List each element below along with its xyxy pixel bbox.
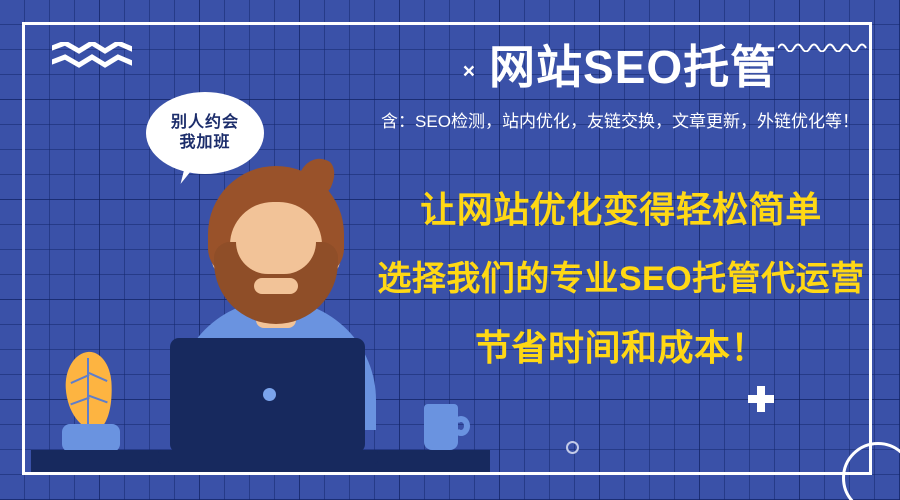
seo-promo-banner: 别人约会 我加班 × 网站SEO托管 含：SEO检测，站内优化，友链交换，文章更… [0, 0, 900, 500]
times-bullet-icon: × [463, 61, 475, 82]
slogan-list: 让网站优化变得轻松简单 选择我们的专业SEO托管代运营 节省时间和成本！ [340, 192, 900, 366]
plant-pot [62, 424, 120, 452]
laptop-base [158, 450, 378, 464]
leaf-shape [63, 350, 114, 431]
slogan-line-2: 选择我们的专业SEO托管代运营 [340, 262, 900, 296]
speech-bubble-line-1: 别人约会 [171, 113, 239, 133]
circle-outline-icon [566, 441, 579, 454]
page-title-text: 网站SEO托管 [489, 44, 777, 90]
plus-icon [748, 386, 774, 412]
speech-bubble: 别人约会 我加班 [146, 92, 264, 174]
headline-block: × 网站SEO托管 含：SEO检测，站内优化，友链交换，文章更新，外链优化等！ [340, 44, 900, 132]
speech-bubble-line-2: 我加班 [179, 133, 230, 153]
slogan-line-1: 让网站优化变得轻松简单 [340, 192, 900, 228]
mouth-shape [254, 278, 298, 294]
double-wave-icon [52, 42, 132, 68]
speech-bubble-body: 别人约会 我加班 [146, 92, 264, 174]
potted-leaf-plant [62, 352, 122, 452]
laptop-logo-dot [263, 388, 276, 401]
page-title: × 网站SEO托管 [340, 44, 900, 90]
mug-body [424, 404, 458, 450]
coffee-mug-icon [424, 404, 472, 450]
slogan-line-3: 节省时间和成本！ [340, 330, 900, 366]
page-subtitle: 含：SEO检测，站内优化，友链交换，文章更新，外链优化等！ [340, 107, 900, 132]
